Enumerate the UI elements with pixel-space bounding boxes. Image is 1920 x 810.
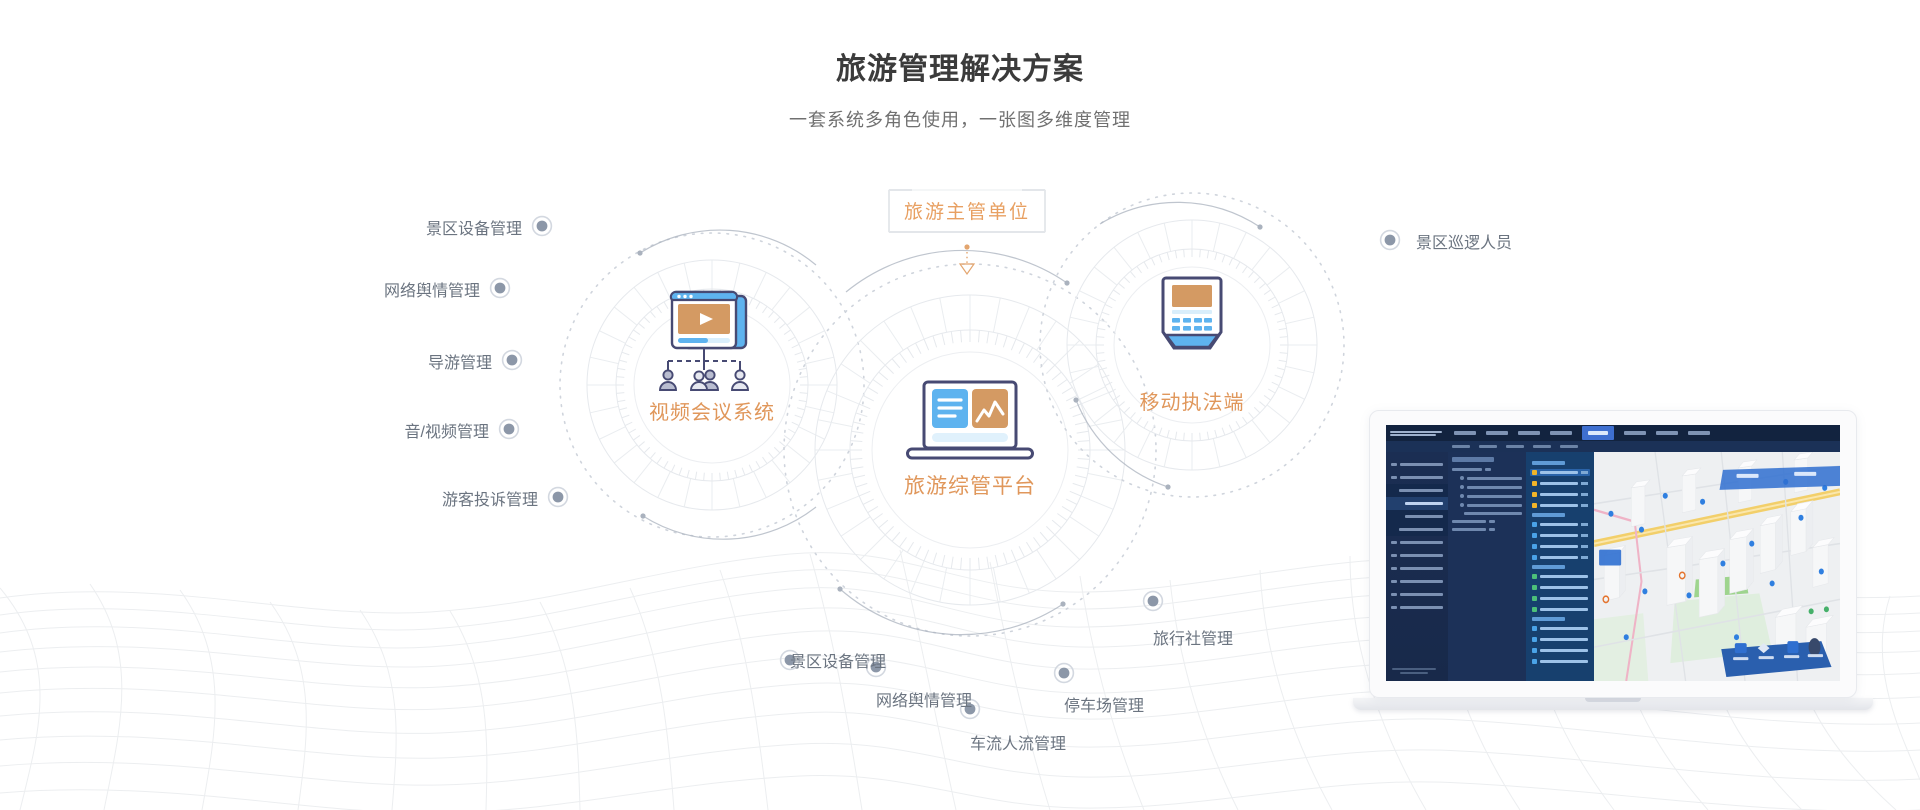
region-node[interactable] — [1452, 468, 1522, 471]
region-tree-panel[interactable] — [1448, 452, 1526, 681]
layer-group-header — [1532, 617, 1565, 621]
left-label-5: 游客投诉管理 — [318, 486, 538, 510]
video-conference-icon — [660, 292, 748, 390]
laptop-mockup — [1353, 410, 1873, 730]
layer-item[interactable] — [1530, 532, 1590, 539]
left-connectors — [491, 217, 652, 507]
region-node[interactable] — [1452, 503, 1522, 507]
layer-item[interactable] — [1530, 606, 1590, 613]
left-label-3: 导游管理 — [272, 349, 492, 373]
ring-label-mobile-enforcement: 移动执法端 — [1092, 386, 1292, 415]
sidebar-item[interactable] — [1386, 510, 1448, 523]
ring-label-tourism-platform: 旅游综管平台 — [870, 470, 1070, 500]
page-root: 旅游管理解决方案 一套系统多角色使用，一张图多维度管理 — [0, 0, 1920, 810]
region-node[interactable] — [1452, 485, 1522, 489]
layer-item[interactable] — [1530, 636, 1590, 643]
dashboard-nav[interactable] — [1454, 426, 1710, 440]
laptop-dashboard-icon — [908, 382, 1033, 458]
governing-unit-box[interactable]: 旅游主管单位 — [884, 186, 1050, 234]
sidebar-item[interactable] — [1386, 458, 1448, 471]
layer-item[interactable] — [1530, 658, 1590, 665]
dashboard-screen — [1386, 425, 1840, 681]
region-node[interactable] — [1452, 520, 1522, 523]
left-label-4: 音/视频管理 — [269, 418, 489, 442]
layer-item[interactable] — [1530, 647, 1590, 654]
sidebar-item[interactable] — [1386, 536, 1448, 549]
sidebar-item[interactable] — [1386, 484, 1448, 497]
sidebar-item[interactable] — [1386, 588, 1448, 601]
layer-group-header — [1532, 513, 1565, 517]
ring-label-video-conference: 视频会议系统 — [612, 396, 812, 425]
dashboard-logo — [1386, 425, 1448, 441]
sidebar-item[interactable] — [1386, 601, 1448, 614]
mobile-device-icon — [1163, 278, 1221, 348]
layer-group-header — [1532, 461, 1565, 465]
left-label-2: 网络舆情管理 — [260, 277, 480, 301]
right-label-1: 景区巡逻人员 — [1416, 229, 1512, 253]
layer-item[interactable] — [1530, 595, 1590, 602]
dashboard-topbar — [1386, 425, 1840, 441]
dashboard-body — [1386, 452, 1840, 681]
layer-item[interactable] — [1530, 491, 1590, 498]
sidebar-footer — [1392, 668, 1436, 676]
layer-item[interactable] — [1530, 554, 1590, 561]
dashboard-sidebar[interactable] — [1386, 452, 1448, 681]
layer-item[interactable] — [1530, 521, 1590, 528]
sidebar-item[interactable] — [1386, 523, 1448, 536]
layer-item[interactable] — [1530, 502, 1590, 509]
sidebar-item[interactable] — [1386, 549, 1448, 562]
map-canvas[interactable] — [1594, 452, 1840, 681]
region-node[interactable] — [1452, 476, 1522, 480]
bottom-connectors — [781, 520, 1163, 718]
laptop-lid — [1369, 410, 1857, 698]
sidebar-item[interactable] — [1386, 562, 1448, 575]
governing-unit-label: 旅游主管单位 — [904, 197, 1030, 224]
layer-item-active[interactable] — [1530, 469, 1590, 476]
laptop-base — [1353, 698, 1873, 710]
region-panel-header — [1452, 457, 1494, 462]
layer-list-panel[interactable] — [1526, 452, 1594, 681]
sidebar-item-active[interactable] — [1386, 497, 1448, 510]
layer-item[interactable] — [1530, 573, 1590, 580]
dashboard-nav-active[interactable] — [1582, 426, 1614, 440]
region-node[interactable] — [1452, 512, 1522, 515]
right-connectors — [1305, 231, 1399, 250]
dashboard-tabbar[interactable] — [1386, 441, 1840, 452]
sidebar-item[interactable] — [1386, 471, 1448, 484]
layer-item[interactable] — [1530, 625, 1590, 632]
region-node[interactable] — [1452, 494, 1522, 498]
left-label-1: 景区设备管理 — [302, 215, 522, 239]
layer-group-header — [1532, 565, 1565, 569]
sidebar-item[interactable] — [1386, 575, 1448, 588]
layer-item[interactable] — [1530, 584, 1590, 591]
layer-item[interactable] — [1530, 480, 1590, 487]
region-node[interactable] — [1452, 528, 1522, 531]
layer-item[interactable] — [1530, 543, 1590, 550]
